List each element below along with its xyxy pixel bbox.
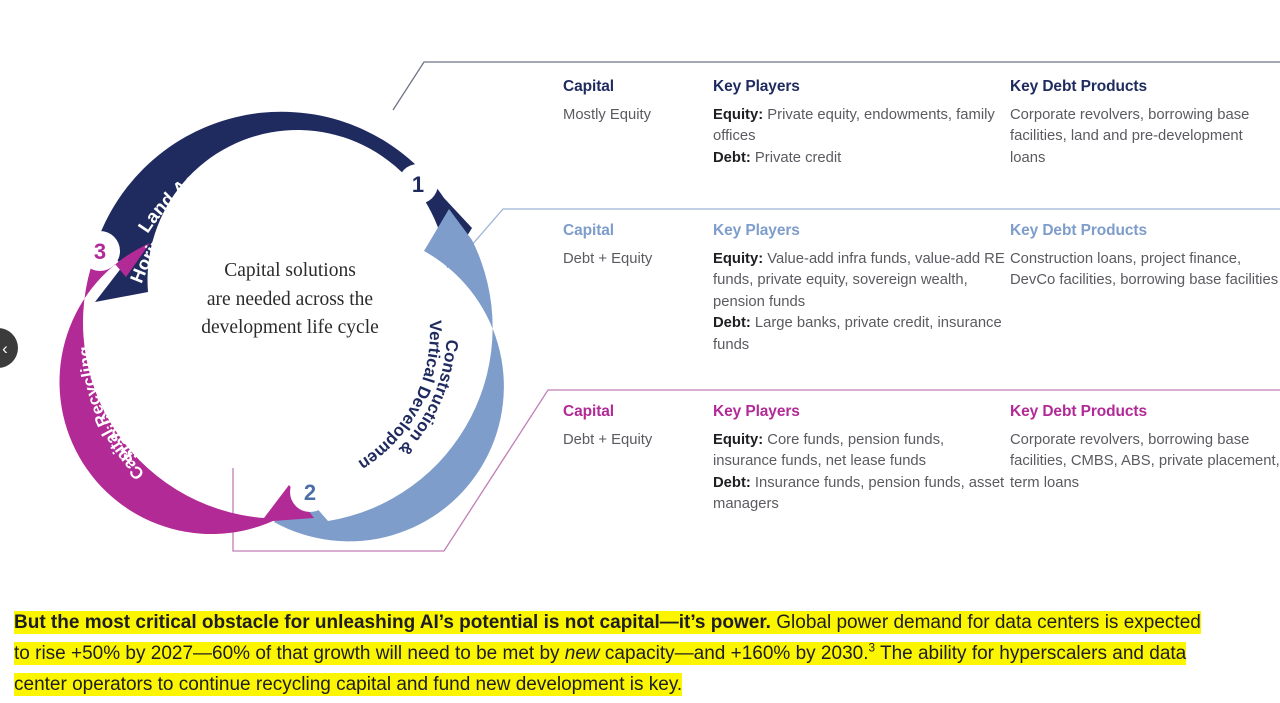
debt-label: Debt: [713, 475, 751, 491]
players-equity-line: Equity: Value-add infra funds, value-add… [713, 249, 1010, 313]
infographic-page: ‹ [0, 0, 1280, 703]
equity-label: Equity: [713, 251, 763, 267]
footer-italic-word: new [565, 643, 600, 664]
footer-highlight: But the most critical obstacle for unlea… [14, 611, 1201, 696]
stage-row-3-capital-col: Capital Debt + Equity [563, 403, 713, 516]
capital-value: Debt + Equity [563, 430, 713, 451]
capital-value: Debt + Equity [563, 249, 713, 270]
stage-row-3-players-col: Key Players Equity: Core funds, pension … [713, 403, 1010, 516]
stage-row-3-products-col: Key Debt Products Corporate revolvers, b… [1010, 403, 1280, 516]
stage-row-2-capital-col: Capital Debt + Equity [563, 222, 713, 356]
players-debt-line: Debt: Private credit [713, 148, 1010, 169]
stage-row-3: Capital Debt + Equity Key Players Equity… [563, 403, 1280, 516]
players-equity-line: Equity: Core funds, pension funds, insur… [713, 430, 1010, 473]
players-debt-line: Debt: Large banks, private credit, insur… [713, 313, 1010, 356]
debt-label: Debt: [713, 315, 751, 331]
debt-value: Insurance funds, pension funds, asset ma… [713, 475, 1004, 512]
players-debt-line: Debt: Insurance funds, pension funds, as… [713, 473, 1010, 516]
capital-value: Mostly Equity [563, 105, 713, 126]
stage-detail-rows: Capital Mostly Equity Key Players Equity… [0, 0, 1280, 600]
footer-rest-part2: capacity—and +160% by 2030. [600, 643, 869, 664]
key-debt-products-heading: Key Debt Products [1010, 403, 1280, 421]
stage-row-1: Capital Mostly Equity Key Players Equity… [563, 78, 1280, 169]
key-players-heading: Key Players [713, 403, 1010, 421]
footer-bold-lead: But the most critical obstacle for unlea… [14, 612, 771, 633]
key-debt-products-heading: Key Debt Products [1010, 78, 1280, 96]
key-players-heading: Key Players [713, 78, 1010, 96]
players-equity-line: Equity: Private equity, endowments, fami… [713, 105, 1010, 148]
key-debt-products-heading: Key Debt Products [1010, 222, 1280, 240]
debt-value: Private credit [751, 150, 841, 166]
products-value: Corporate revolvers, borrowing base faci… [1010, 430, 1280, 494]
stage-row-2-players-col: Key Players Equity: Value-add infra fund… [713, 222, 1010, 356]
debt-label: Debt: [713, 150, 751, 166]
equity-label: Equity: [713, 432, 763, 448]
capital-heading: Capital [563, 403, 713, 421]
debt-value: Large banks, private credit, insurance f… [713, 315, 1002, 352]
equity-label: Equity: [713, 107, 763, 123]
stage-row-1-capital-col: Capital Mostly Equity [563, 78, 713, 169]
footer-paragraph: But the most critical obstacle for unlea… [14, 608, 1204, 700]
capital-heading: Capital [563, 78, 713, 96]
stage-row-1-players-col: Key Players Equity: Private equity, endo… [713, 78, 1010, 169]
stage-row-2: Capital Debt + Equity Key Players Equity… [563, 222, 1280, 356]
key-players-heading: Key Players [713, 222, 1010, 240]
stage-row-1-products-col: Key Debt Products Corporate revolvers, b… [1010, 78, 1280, 169]
products-value: Corporate revolvers, borrowing base faci… [1010, 105, 1280, 169]
stage-row-2-products-col: Key Debt Products Construction loans, pr… [1010, 222, 1280, 356]
products-value: Construction loans, project finance, Dev… [1010, 249, 1280, 292]
capital-heading: Capital [563, 222, 713, 240]
